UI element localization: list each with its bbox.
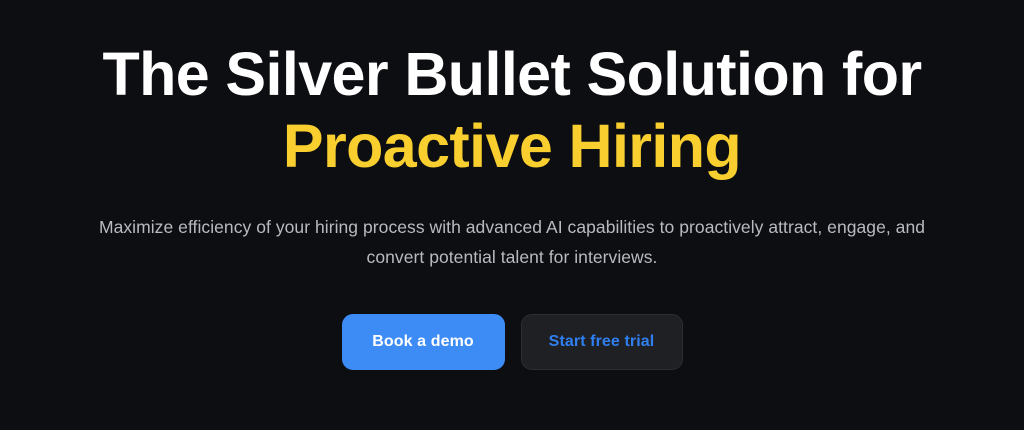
hero-cta-group: Book a demo Start free trial: [342, 272, 683, 370]
headline-line-primary: The Silver Bullet Solution for: [102, 38, 921, 110]
page-title: The Silver Bullet Solution for Proactive…: [102, 0, 921, 182]
hero-subtitle: Maximize efficiency of your hiring proce…: [72, 182, 952, 272]
book-a-demo-button[interactable]: Book a demo: [342, 314, 505, 370]
start-free-trial-button[interactable]: Start free trial: [521, 314, 683, 370]
headline-line-accent: Proactive Hiring: [102, 110, 921, 182]
hero-section: The Silver Bullet Solution for Proactive…: [0, 0, 1024, 430]
